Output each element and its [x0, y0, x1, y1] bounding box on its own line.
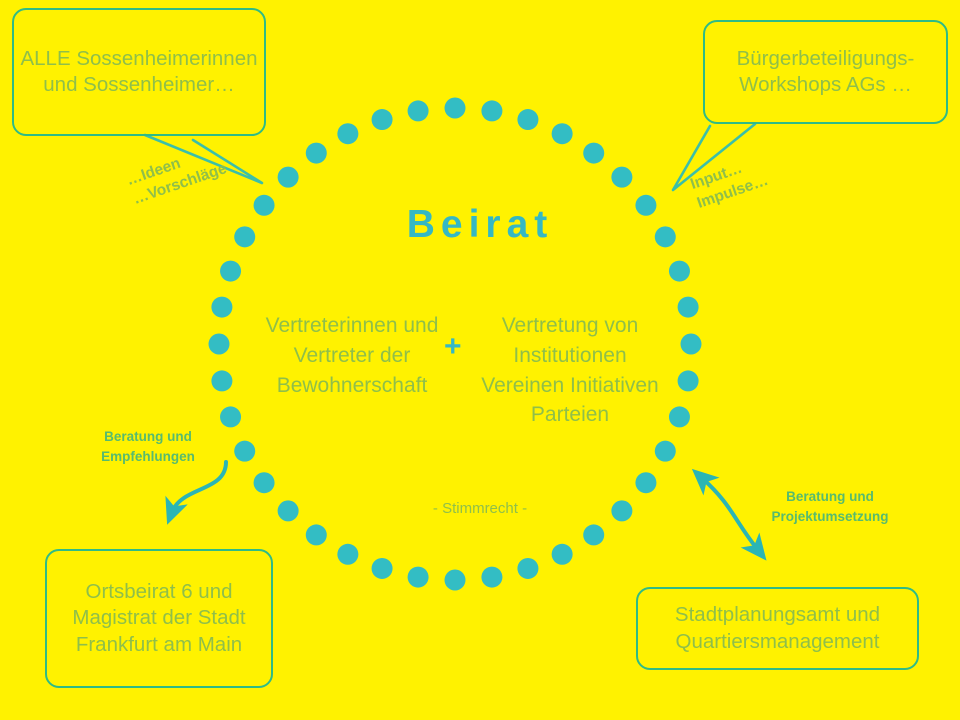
circle-dot — [583, 143, 604, 164]
circle-dot — [517, 109, 538, 130]
circle-dot — [655, 441, 676, 462]
circle-dot — [254, 472, 275, 493]
circle-dot — [234, 441, 255, 462]
circle-dot — [306, 143, 327, 164]
circle-dot — [337, 544, 358, 565]
circle-dot — [669, 406, 690, 427]
page-title: Beirat — [0, 203, 960, 247]
circle-dot — [408, 100, 429, 121]
circle-dot — [552, 123, 573, 144]
circle-dot — [372, 558, 393, 579]
diagram-canvas: ALLE Sossenheimerinnen und Sossenheimer…… — [0, 0, 960, 720]
circle-dot — [337, 123, 358, 144]
arrow-label-beratung-projektumsetzung: Beratung und Projektumsetzung — [745, 487, 915, 526]
circle-dot — [611, 167, 632, 188]
center-left-column: Vertreterinnen und Vertreter der Bewohne… — [262, 311, 442, 400]
plus-icon: + — [444, 332, 462, 362]
circle-dot — [372, 109, 393, 130]
box-ortsbeirat[interactable]: Ortsbeirat 6 und Magistrat der Stadt Fra… — [45, 549, 273, 688]
box-ortsbeirat-text: Ortsbeirat 6 und Magistrat der Stadt Fra… — [47, 579, 271, 658]
circle-dot — [211, 370, 232, 391]
circle-dot — [220, 261, 241, 282]
speech-bubble-workshops[interactable]: Bürgerbeteiligungs- Workshops AGs … — [703, 20, 948, 124]
circle-dot — [517, 558, 538, 579]
circle-dot — [220, 406, 241, 427]
circle-dot — [211, 297, 232, 318]
circle-dot — [306, 524, 327, 545]
arrow-label-beratung-empfehlungen: Beratung und Empfehlungen — [73, 427, 223, 466]
circle-dot — [278, 167, 299, 188]
box-stadtplanung[interactable]: Stadtplanungsamt und Quartiersmanagement — [636, 587, 919, 670]
circle-dot — [209, 334, 230, 355]
annotation-ideen-vorschlaege: …Ideen …Vorschläge — [124, 140, 230, 210]
circle-dot — [481, 567, 502, 588]
circle-dot — [408, 567, 429, 588]
circle-dot — [669, 261, 690, 282]
circle-dot — [678, 370, 699, 391]
speech-bubble-workshops-text: Bürgerbeteiligungs- Workshops AGs … — [705, 46, 946, 98]
circle-dot — [552, 544, 573, 565]
box-stadtplanung-text: Stadtplanungsamt und Quartiersmanagement — [638, 602, 917, 654]
speech-bubble-alle[interactable]: ALLE Sossenheimerinnen und Sossenheimer… — [12, 8, 266, 136]
circle-dot — [445, 98, 466, 119]
center-right-column: Vertretung von Institutionen Vereinen In… — [480, 311, 660, 430]
circle-dot — [481, 100, 502, 121]
circle-dot — [681, 334, 702, 355]
circle-dot — [635, 472, 656, 493]
speech-bubble-alle-text: ALLE Sossenheimerinnen und Sossenheimer… — [14, 46, 264, 98]
circle-dot — [583, 524, 604, 545]
circle-dot — [445, 570, 466, 591]
circle-dot — [678, 297, 699, 318]
